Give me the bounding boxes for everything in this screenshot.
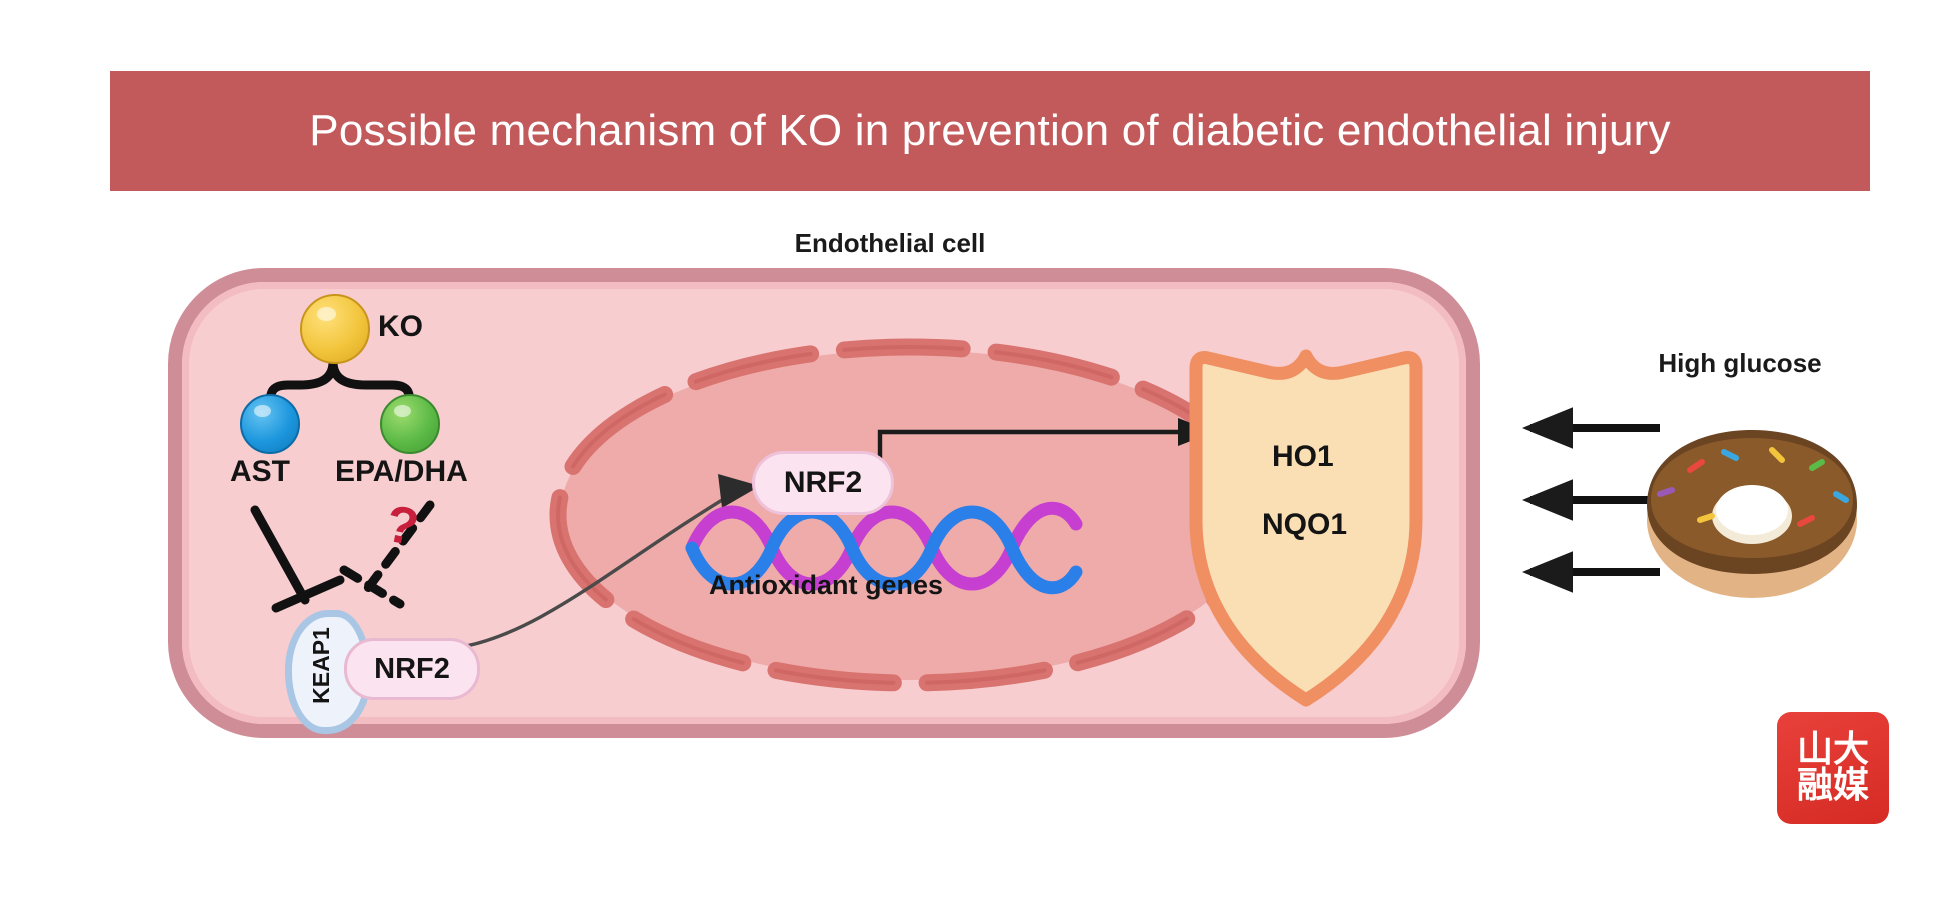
donut-icon [1647, 430, 1857, 598]
nrf2-nucleus-pill: NRF2 [752, 451, 894, 515]
ko-brace [270, 362, 410, 404]
epa-dha-molecule-icon [380, 394, 440, 454]
nrf2-translocation-arrow [455, 474, 760, 648]
antioxidant-genes-label: Antioxidant genes [709, 570, 943, 601]
ho1-label: HO1 [1272, 440, 1334, 474]
nrf2-cytoplasm-pill: NRF2 [344, 638, 480, 700]
ast-label: AST [230, 455, 290, 489]
nrf2-nucleus-label: NRF2 [784, 466, 862, 500]
logo-line-2: 融媒 [1797, 768, 1869, 804]
antioxidant-to-shield-arrow [880, 418, 1214, 480]
nrf2-cytoplasm-label: NRF2 [374, 653, 450, 686]
ko-label: KO [378, 310, 423, 344]
diagram-vector-layer [0, 0, 1947, 900]
high-glucose-arrows [1530, 428, 1660, 572]
keap1-label: KEAP1 [308, 627, 335, 704]
ko-molecule-icon [300, 294, 370, 364]
ast-molecule-icon [240, 394, 300, 454]
logo-line-1: 山大 [1797, 732, 1869, 768]
ast-inhibition-arrow [255, 510, 340, 608]
epa-dha-label: EPA/DHA [335, 455, 468, 489]
nqo1-label: NQO1 [1262, 508, 1347, 542]
diagram-canvas: Possible mechanism of KO in prevention o… [0, 0, 1947, 900]
publisher-logo-badge: 山大 融媒 [1777, 712, 1889, 824]
